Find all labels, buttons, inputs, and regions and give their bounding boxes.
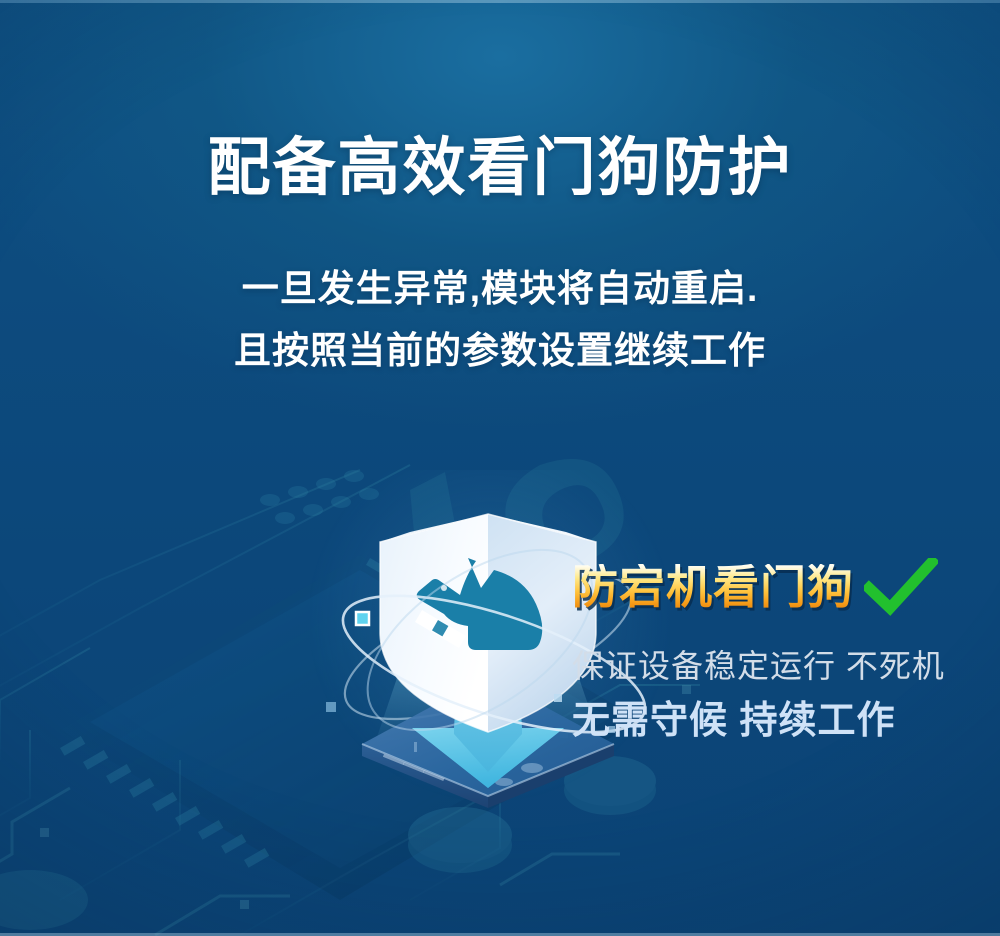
headline-block: 配备高效看门狗防护 bbox=[0, 136, 1000, 200]
check-mark-icon bbox=[864, 558, 938, 616]
subtitle-block: 一旦发生异常,模块将自动重启. 且按照当前的参数设置继续工作 bbox=[0, 258, 1000, 382]
feature-highlight: 无需守候 持续工作 bbox=[572, 682, 972, 740]
feature-description: 保证设备稳定运行 不死机 bbox=[572, 618, 972, 682]
watchdog-banner: 配备高效看门狗防护 一旦发生异常,模块将自动重启. 且按照当前的参数设置继续工作 bbox=[0, 0, 1000, 936]
feature-badge-title: 防宕机看门狗 bbox=[572, 564, 854, 610]
page-title: 配备高效看门狗防护 bbox=[0, 136, 1000, 200]
subtitle-line-1: 一旦发生异常,模块将自动重启. bbox=[0, 258, 1000, 320]
top-border-line bbox=[0, 0, 1000, 3]
subtitle-line-2: 且按照当前的参数设置继续工作 bbox=[0, 320, 1000, 382]
feature-block: 防宕机看门狗 保证设备稳定运行 不死机 无需守候 持续工作 bbox=[572, 556, 972, 740]
feature-headline-row: 防宕机看门狗 bbox=[572, 556, 972, 618]
